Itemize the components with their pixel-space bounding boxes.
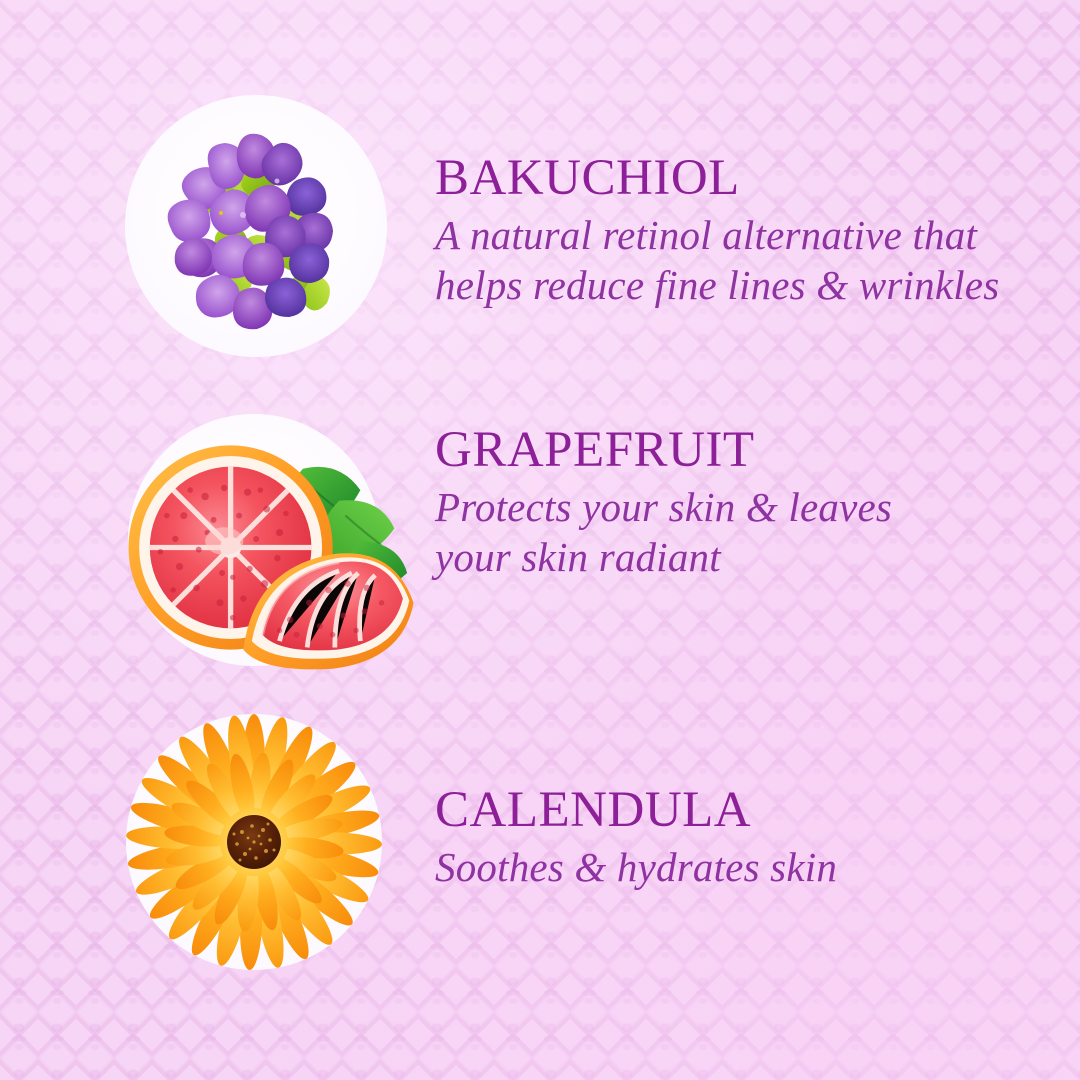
- grapefruit-illustration: [128, 414, 380, 666]
- description-line: A natural retinol alternative that: [435, 212, 977, 258]
- ingredient-description-bakuchiol: A natural retinol alternative that helps…: [435, 210, 1035, 310]
- ingredient-title-bakuchiol: BAKUCHIOL: [435, 153, 1035, 204]
- ingredient-text-bakuchiol: BAKUCHIOL A natural retinol alternative …: [435, 153, 1035, 310]
- ingredient-row-grapefruit: GRAPEFRUIT Protects your skin & leaves y…: [0, 408, 1080, 680]
- lavender-flower-illustration: [125, 95, 387, 357]
- ingredient-image-bakuchiol: [125, 95, 387, 357]
- ingredient-description-grapefruit: Protects your skin & leaves your skin ra…: [435, 482, 1035, 582]
- ingredient-highlights-poster: BAKUCHIOL A natural retinol alternative …: [0, 0, 1080, 1080]
- ingredient-row-calendula: CALENDULA Soothes & hydrates skin: [0, 708, 1080, 980]
- ingredient-title-grapefruit: GRAPEFRUIT: [435, 425, 1035, 476]
- description-line: helps reduce fine lines & wrinkles: [435, 262, 999, 308]
- ingredient-image-grapefruit: [128, 414, 380, 666]
- ingredient-title-calendula: CALENDULA: [435, 785, 1035, 836]
- ingredient-image-calendula: [126, 714, 382, 970]
- description-line: Soothes & hydrates skin: [435, 844, 837, 890]
- description-line: Protects your skin & leaves: [435, 484, 892, 530]
- calendula-flower-illustration: [126, 714, 382, 970]
- ingredient-text-calendula: CALENDULA Soothes & hydrates skin: [435, 785, 1035, 892]
- ingredient-row-bakuchiol: BAKUCHIOL A natural retinol alternative …: [0, 95, 1080, 370]
- ingredient-list: BAKUCHIOL A natural retinol alternative …: [0, 0, 1080, 1080]
- ingredient-description-calendula: Soothes & hydrates skin: [435, 842, 1035, 892]
- description-line: your skin radiant: [435, 534, 721, 580]
- ingredient-text-grapefruit: GRAPEFRUIT Protects your skin & leaves y…: [435, 425, 1035, 582]
